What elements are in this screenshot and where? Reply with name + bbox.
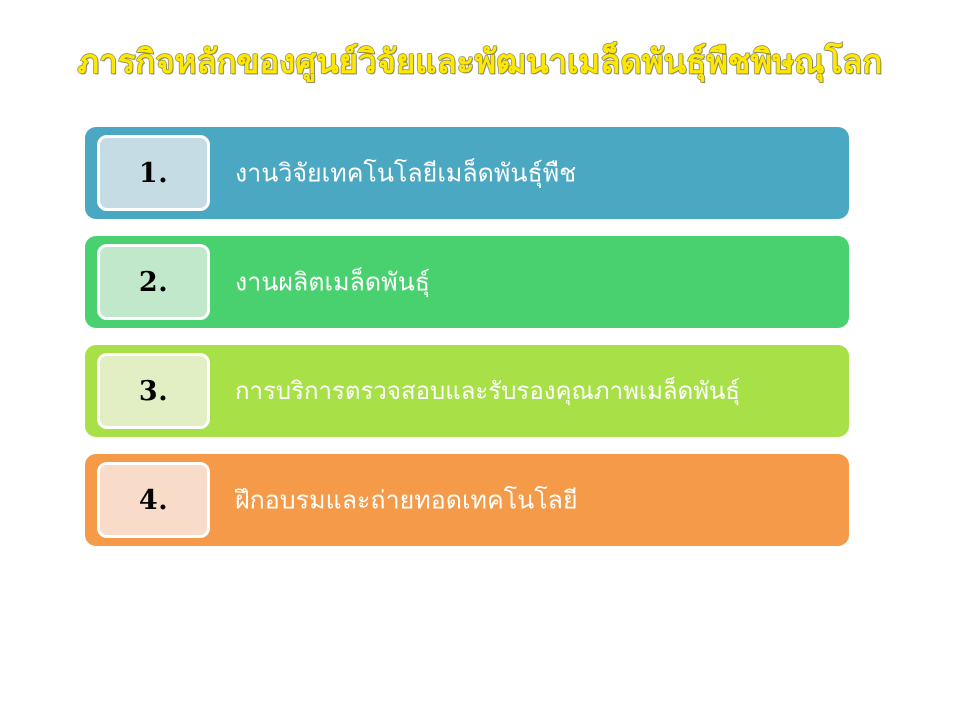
item-number-chip: 2. <box>97 244 210 320</box>
item-number-label: 3. <box>139 378 168 405</box>
item-number-label: 2. <box>139 269 168 296</box>
list-item[interactable]: 3. การบริการตรวจสอบและรับรองคุณภาพเมล็ดพ… <box>85 345 849 437</box>
item-number-chip: 3. <box>97 353 210 429</box>
item-number-chip: 1. <box>97 135 210 211</box>
list-item[interactable]: 4. ฝึกอบรมและถ่ายทอดเทคโนโลยี <box>85 454 849 546</box>
mission-list: 1. งานวิจัยเทคโนโลยีเมล็ดพันธุ์พืช 2. งา… <box>85 127 849 546</box>
item-number-label: 1. <box>139 160 168 187</box>
page-title: ภารกิจหลักของศูนย์วิจัยและพัฒนาเมล็ดพันธ… <box>77 44 882 81</box>
slide-canvas: ภารกิจหลักของศูนย์วิจัยและพัฒนาเมล็ดพันธ… <box>0 0 960 720</box>
item-number-chip: 4. <box>97 462 210 538</box>
list-item[interactable]: 1. งานวิจัยเทคโนโลยีเมล็ดพันธุ์พืช <box>85 127 849 219</box>
item-text-label: งานผลิตเมล็ดพันธุ์ <box>235 266 837 297</box>
item-number-label: 4. <box>139 487 168 514</box>
title-container: ภารกิจหลักของศูนย์วิจัยและพัฒนาเมล็ดพันธ… <box>0 44 960 81</box>
list-item[interactable]: 2. งานผลิตเมล็ดพันธุ์ <box>85 236 849 328</box>
item-text-label: การบริการตรวจสอบและรับรองคุณภาพเมล็ดพันธ… <box>235 376 837 406</box>
item-text-label: งานวิจัยเทคโนโลยีเมล็ดพันธุ์พืช <box>235 157 837 188</box>
item-text-label: ฝึกอบรมและถ่ายทอดเทคโนโลยี <box>235 484 837 515</box>
